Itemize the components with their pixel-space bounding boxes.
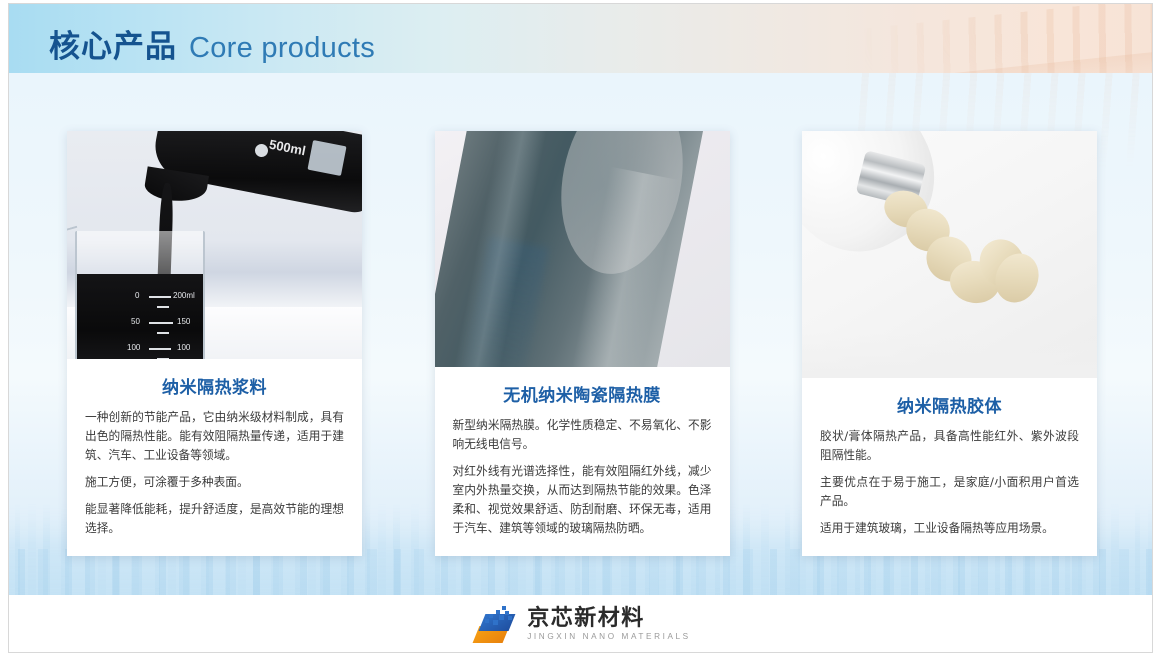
photo1-tick-6 bbox=[157, 358, 169, 359]
product-photo-ceramic-film bbox=[435, 131, 730, 367]
photo1-tick-4 bbox=[157, 332, 169, 334]
logo-pixel-6 bbox=[508, 616, 512, 620]
product-photo-nano-paste bbox=[802, 131, 1097, 378]
photo1-grad-right-200ml: 200ml bbox=[173, 291, 195, 300]
photo1-grad-right-150: 150 bbox=[177, 317, 190, 326]
page-title-en: Core products bbox=[189, 32, 375, 65]
logo-pixel-2 bbox=[496, 610, 500, 614]
product-card-2-title: 无机纳米陶瓷隔热膜 bbox=[453, 381, 712, 406]
slide-canvas: 核心产品 Core products 500ml bbox=[0, 0, 1161, 656]
photo1-tick-5 bbox=[149, 348, 171, 350]
product-card-2-para-1: 新型纳米隔热膜。化学性质稳定、不易氧化、不影响无线电信号。 bbox=[453, 416, 712, 454]
product-card-3-body: 纳米隔热胶体 胶状/膏体隔热产品，具备高性能红外、紫外波段阻隔性能。 主要优点在… bbox=[802, 378, 1097, 556]
photo3-paste bbox=[884, 187, 1034, 319]
photo1-beaker: 0 50 100 150 200ml 150 100 50 250 ml bbox=[75, 231, 205, 359]
photo1-tick-1 bbox=[149, 296, 171, 298]
product-card-2-body: 无机纳米陶瓷隔热膜 新型纳米隔热膜。化学性质稳定、不易氧化、不影响无线电信号。 … bbox=[435, 367, 730, 556]
slide-frame: 核心产品 Core products 500ml bbox=[8, 3, 1153, 653]
photo1-tick-2 bbox=[157, 306, 169, 308]
pixel-parallelogram-logo-icon bbox=[472, 605, 518, 645]
product-card-1-para-2: 施工方便，可涂覆于多种表面。 bbox=[85, 473, 344, 492]
product-card-3-para-1: 胶状/膏体隔热产品，具备高性能红外、紫外波段阻隔性能。 bbox=[820, 427, 1079, 465]
slide-footer: 京芯新材料 JINGXIN NANO MATERIALS bbox=[9, 595, 1153, 653]
product-card-3-para-3: 适用于建筑玻璃，工业设备隔热等应用场景。 bbox=[820, 519, 1079, 538]
product-card-2[interactable]: 无机纳米陶瓷隔热膜 新型纳米隔热膜。化学性质稳定、不易氧化、不影响无线电信号。 … bbox=[435, 131, 730, 556]
photo1-grad-left-100: 100 bbox=[127, 343, 140, 352]
product-card-3-para-2: 主要优点在于易于施工，是家庭/小面积用户首选产品。 bbox=[820, 473, 1079, 511]
product-card-3[interactable]: 纳米隔热胶体 胶状/膏体隔热产品，具备高性能红外、紫外波段阻隔性能。 主要优点在… bbox=[802, 131, 1097, 556]
company-logo: 京芯新材料 JINGXIN NANO MATERIALS bbox=[472, 605, 691, 645]
logo-pixel-7 bbox=[485, 619, 489, 623]
page-title-cn: 核心产品 bbox=[49, 21, 177, 66]
product-card-1-title: 纳米隔热浆料 bbox=[85, 373, 344, 398]
product-card-3-title: 纳米隔热胶体 bbox=[820, 392, 1079, 417]
product-card-1-body: 纳米隔热浆料 一种创新的节能产品，它由纳米级材料制成，具有出色的隔热性能。能有效… bbox=[67, 359, 362, 556]
product-card-1-para-3: 能显著降低能耗，提升舒适度，是高效节能的理想选择。 bbox=[85, 500, 344, 538]
logo-pixel-5 bbox=[499, 615, 504, 620]
logo-pixel-8 bbox=[493, 620, 498, 625]
photo1-grad-right-100: 100 bbox=[177, 343, 190, 352]
page-title: 核心产品 Core products bbox=[49, 21, 375, 66]
product-card-2-para-2: 对红外线有光谱选择性，能有效阻隔红外线，减少室内外热量交换，从而达到隔热节能的效… bbox=[453, 462, 712, 538]
product-card-1[interactable]: 500ml 0 50 100 150 200ml 150 100 bbox=[67, 131, 362, 556]
product-card-1-para-1: 一种创新的节能产品，它由纳米级材料制成，具有出色的隔热性能。能有效阻隔热量传递，… bbox=[85, 408, 344, 465]
logo-name-cn: 京芯新材料 bbox=[527, 608, 691, 630]
photo3-tabletop bbox=[802, 332, 1097, 378]
photo1-grad-left-50: 50 bbox=[131, 317, 140, 326]
product-card-list: 500ml 0 50 100 150 200ml 150 100 bbox=[67, 131, 1097, 556]
photo1-grad-left-0: 0 bbox=[135, 291, 139, 300]
slide-header: 核心产品 Core products bbox=[9, 4, 1153, 73]
product-photo-nano-slurry: 500ml 0 50 100 150 200ml 150 100 bbox=[67, 131, 362, 359]
logo-pixel-4 bbox=[489, 614, 493, 618]
logo-text: 京芯新材料 JINGXIN NANO MATERIALS bbox=[527, 608, 691, 641]
photo1-bottle-sticker bbox=[307, 140, 346, 176]
photo1-tick-3 bbox=[149, 322, 173, 324]
logo-pixel-1 bbox=[502, 606, 506, 610]
logo-name-en: JINGXIN NANO MATERIALS bbox=[527, 633, 691, 641]
logo-pixel-3 bbox=[505, 611, 509, 615]
